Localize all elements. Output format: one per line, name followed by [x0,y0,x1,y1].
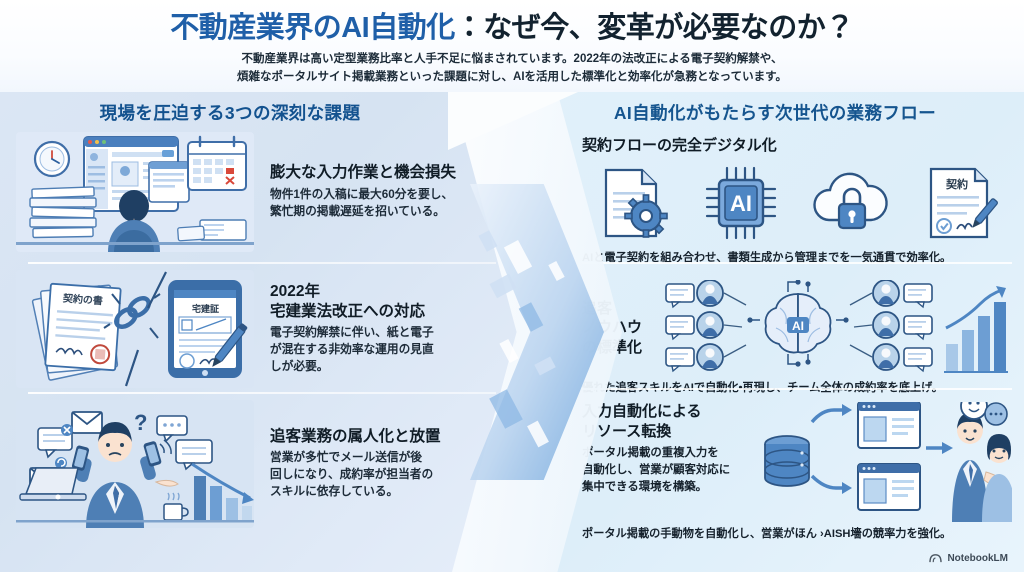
benefit-3-body-line-1: ポータル掲載の重複入力を [582,447,719,459]
benefit-2-title-line-2: ノウハウ [582,319,642,336]
problem-1-text: 膨大な入力作業と機会損失 物件1件の入稿に最大60分を要し、 繁忙期の掲載遅延を… [266,163,521,221]
benefit-item-2: 追客 ノウハウ の標準化 [582,280,1012,396]
page-title-rest: ：なぜ今、変革が必要なのか？ [455,12,854,44]
problem-1-body-line-2: 繁忙期の掲載遅延を招いている。 [270,205,445,218]
solutions-heading: AI自動化がもたらす次世代の業務フロー [540,100,1010,125]
notebooklm-icon [929,553,942,564]
problem-3-body-line-3: スキルに依存している。 [270,485,398,498]
problem-3-body: 営業が多忙でメール送信が後 回しになり、成約率が担当者の スキルに依存している。 [270,450,521,501]
problem-1-body: 物件1件の入稿に最大60分を要し、 繁忙期の掲載遅延を招いている。 [270,187,521,221]
problem-2-title-line-1: 2022年 [270,283,320,300]
problem-2-body-line-1: 電子契約解禁に伴い、紙と電子 [270,326,434,339]
tablet-contract-label: 宅建証 [192,303,219,314]
benefit-3-body-line-2: 自動化し、営業が顧客対応に [582,464,730,476]
problem-item-1: 膨大な入力作業と機会損失 物件1件の入稿に最大60分を要し、 繁忙期の掲載遅延を… [16,132,521,252]
problem-2-body-line-3: しが必要。 [270,360,328,373]
content-panels: 現場を圧迫する3つの深刻な課題 [0,92,1024,572]
problem-divider-2 [28,392,496,394]
problem-3-body-line-1: 営業が多忙でメール送信が後 [270,451,422,464]
page-subtitle: 不動産業界は高い定型業務比率と人手不足に悩まされています。2022年の法改正によ… [0,51,1024,87]
problem-divider-1 [28,262,496,264]
ai-chip-icon: AI [697,164,789,242]
cloud-lock-icon [805,164,897,242]
benefit-1-icon-row: AI 契約 [582,164,1012,242]
paper-vs-digital-contract-illustration: 契約の書 [16,270,254,388]
benefit-1-title: 契約フローの完全デジタル化 [582,136,1012,156]
problem-2-title: 2022年 宅建業法改正への対応 [270,282,521,322]
contract-label: 契約 [946,177,968,191]
document-gear-icon [588,164,680,242]
contract-signature-icon: 契約 [914,164,1006,242]
svg-text:?: ? [134,410,147,435]
problem-1-title: 膨大な入力作業と機会損失 [270,163,521,183]
problem-3-title: 追客業務の属人化と放置 [270,427,521,447]
problem-3-body-line-2: 回しになり、成約率が担当者の [270,468,433,481]
problems-heading: 現場を圧迫する3つの深刻な課題 [0,100,460,125]
problem-item-3: ? [16,400,521,528]
page-subtitle-line-2: 煩雑なポータルサイト掲載業務といった課題に対し、AIを活用した標準化と効率化が急… [0,69,1024,87]
ai-chip-label: AI [730,191,752,216]
benefit-3-caption: ポータル掲載の手動物を自動化し、営業がほん ›AISH墻の競率力を強化。 [582,526,1012,542]
problem-2-title-line-2: 宅建業法改正への対応 [270,303,425,320]
benefit-divider-2 [582,388,1012,390]
benefit-divider-1 [582,262,1012,264]
problem-3-text: 追客業務の属人化と放置 営業が多忙でメール送信が後 回しになり、成約率が担当者の… [266,427,521,502]
benefit-3-title: 入力自動化による リソース転換 [582,402,754,441]
page-title: 不動産業界のAI自動化：なぜ今、変革が必要なのか？ [0,12,1024,44]
benefit-3-body-line-3: 集中できる環境を構築。 [582,481,707,493]
problem-2-body: 電子契約解禁に伴い、紙と電子 が混在する非効率な運用の見直 しが必要。 [270,325,521,376]
page-subtitle-line-1: 不動産業界は高い定型業務比率と人手不足に悩まされています。2022年の法改正によ… [0,51,1024,69]
poster-header: 不動産業界のAI自動化：なぜ今、変革が必要なのか？ 不動産業界は高い定型業務比率… [0,0,1024,92]
watermark-label: NotebookLM [947,553,1008,564]
benefit-2-title: 追客 ノウハウ の標準化 [582,299,660,358]
ai-node-label: AI [792,319,804,333]
ai-brain-network-diagram: AI [664,280,1010,376]
overworked-desk-illustration [16,132,254,252]
benefit-3-title-line-1: 入力自動化による [582,403,702,420]
benefit-item-1: 契約フローの完全デジタル化 [582,136,1012,266]
problem-2-body-line-2: が混在する非効率な運用の見直 [270,343,434,356]
watermark: NotebookLM [929,553,1008,564]
problem-2-text: 2022年 宅建業法改正への対応 電子契約解禁に伴い、紙と電子 が混在する非効率… [266,282,521,377]
database-to-portal-flow-diagram [760,402,1012,522]
page-title-highlight: 不動産業界のAI自動化 [170,12,455,44]
benefit-3-title-line-2: リソース転換 [582,423,671,440]
benefit-2-title-line-3: の標準化 [582,339,642,356]
benefit-item-3: 入力自動化による リソース転換 ポータル掲載の重複入力を 自動化し、営業が顧客対… [582,402,1012,542]
benefit-3-body: ポータル掲載の重複入力を 自動化し、営業が顧客対応に 集中できる環境を構築。 [582,445,754,496]
stressed-sales-illustration: ? [16,400,254,528]
problem-item-2: 契約の書 [16,270,521,388]
benefit-2-title-line-1: 追客 [582,300,612,317]
problem-1-body-line-1: 物件1件の入稿に最大60分を要し、 [270,188,453,201]
infographic-poster: 不動産業界のAI自動化：なぜ今、変革が必要なのか？ 不動産業界は高い定型業務比率… [0,0,1024,572]
